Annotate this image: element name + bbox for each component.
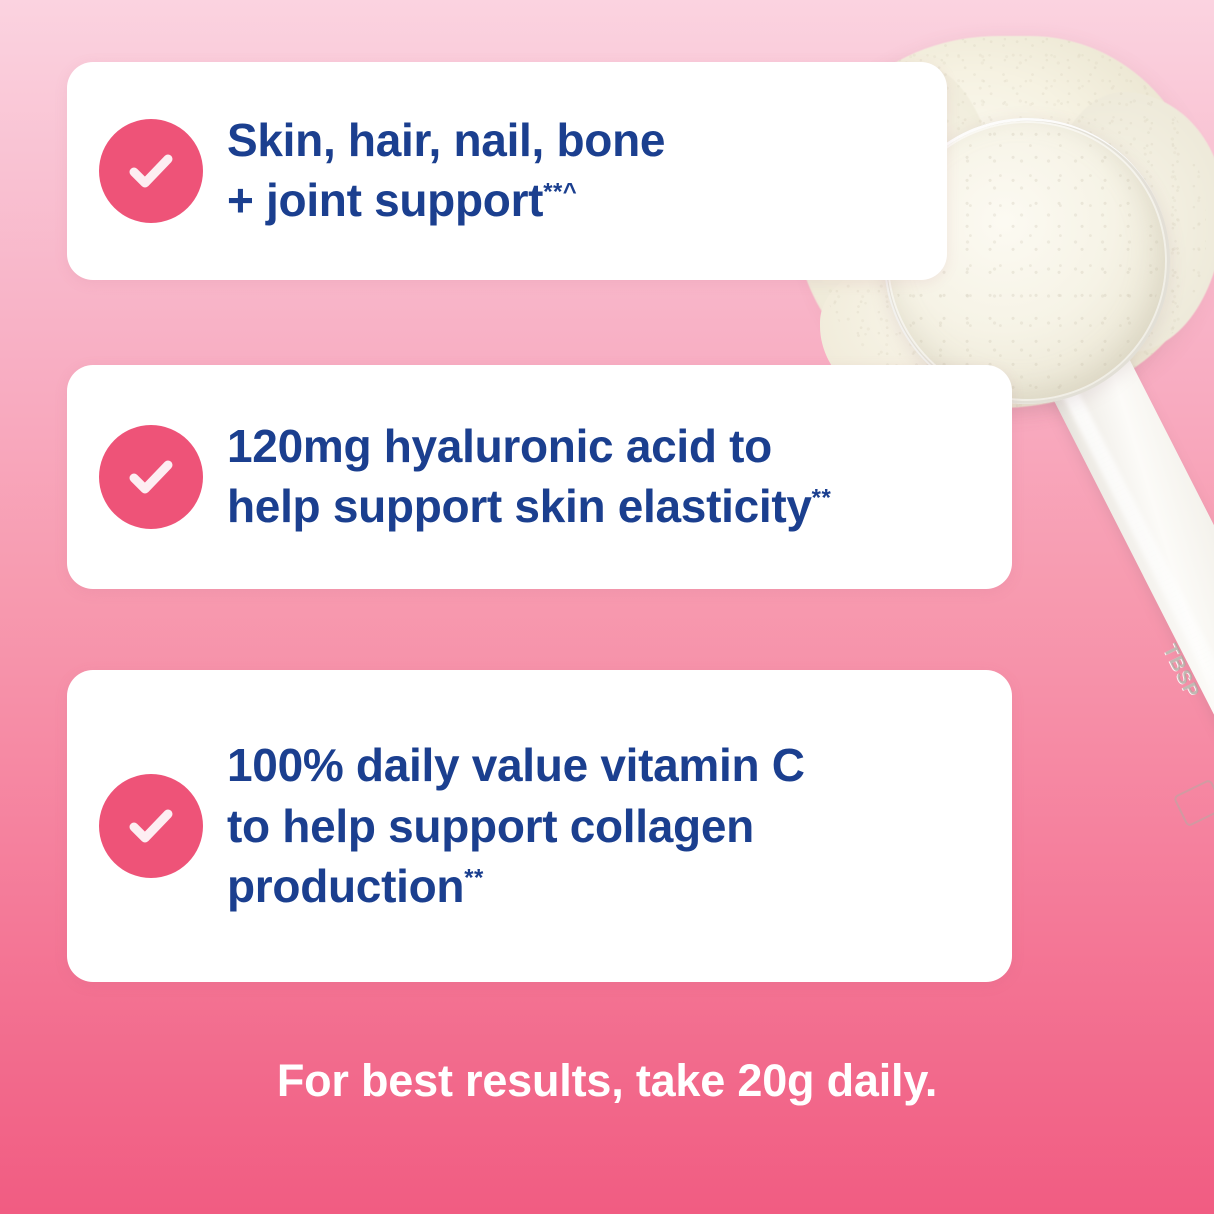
benefit-card-text: 100% daily value vitamin Cto help suppor…	[227, 735, 825, 917]
benefit-line-2: + joint support	[227, 174, 543, 226]
benefit-card-hyaluronic-acid: 120mg hyaluronic acid tohelp support ski…	[67, 365, 1012, 589]
check-icon	[99, 774, 203, 878]
benefit-footnote: **^	[543, 179, 577, 206]
benefit-card-text: Skin, hair, nail, bone+ joint support**^	[227, 111, 685, 231]
benefit-footnote: **	[812, 485, 832, 512]
check-icon	[99, 119, 203, 223]
benefit-card-list: Skin, hair, nail, bone+ joint support**^…	[0, 0, 1214, 1214]
benefit-line-2: to help support collagen	[227, 800, 754, 852]
dosage-instruction: For best results, take 20g daily.	[0, 1055, 1214, 1107]
check-icon	[99, 425, 203, 529]
benefit-line-3: production	[227, 860, 464, 912]
benefit-line-1: 120mg hyaluronic acid to	[227, 420, 772, 472]
benefit-line-2: help support skin elasticity	[227, 480, 812, 532]
benefit-card-vitamin-c-collagen: 100% daily value vitamin Cto help suppor…	[67, 670, 1012, 982]
benefit-card-text: 120mg hyaluronic acid tohelp support ski…	[227, 417, 851, 537]
benefit-line-1: 100% daily value vitamin C	[227, 739, 805, 791]
benefit-footnote: **	[464, 865, 484, 892]
benefit-line-1: Skin, hair, nail, bone	[227, 114, 665, 166]
benefit-card-skin-hair-nail-bone-joint: Skin, hair, nail, bone+ joint support**^	[67, 62, 947, 280]
